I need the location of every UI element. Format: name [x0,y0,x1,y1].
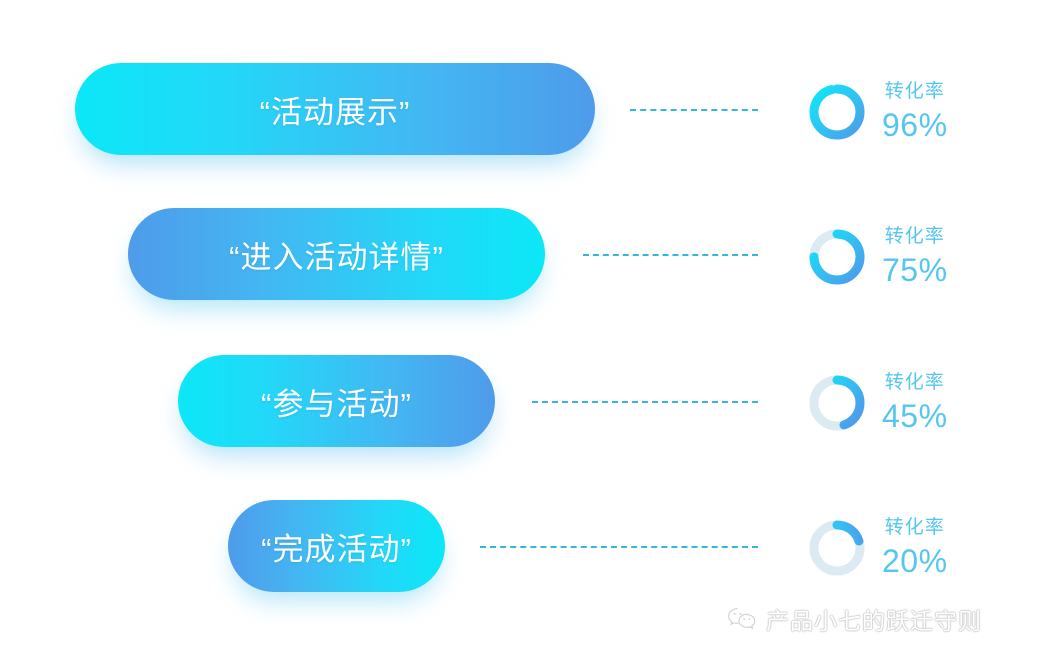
funnel-bar-label-4: “完成活动” [261,524,412,569]
funnel-bar-label-3: “参与活动” [261,379,412,424]
connector-line-4 [480,546,758,548]
metric-title-4: 转化率 [885,518,945,537]
metric-group-2: 转化率 75% [808,227,948,286]
donut-chart-3 [808,374,866,432]
metric-text-2: 转化率 75% [882,227,948,286]
metric-value-3: 45% [882,400,948,432]
metric-group-4: 转化率 20% [808,518,948,577]
funnel-bar-1[interactable]: “活动展示” [75,63,595,155]
connector-line-2 [583,254,758,256]
connector-line-1 [630,109,758,111]
metric-text-4: 转化率 20% [882,518,948,577]
funnel-bar-2[interactable]: “进入活动详情” [128,208,545,300]
metric-title-3: 转化率 [885,373,945,392]
metric-group-1: 转化率 96% [808,82,948,141]
donut-chart-2 [808,228,866,286]
funnel-bar-label-2: “进入活动详情” [229,232,444,277]
connector-line-3 [532,401,758,403]
metric-title-2: 转化率 [885,227,945,246]
funnel-stage-1: “活动展示” [75,63,595,155]
watermark-text: 产品小七的跃迁守则 [766,602,982,636]
metric-value-1: 96% [882,109,948,141]
metric-title-1: 转化率 [885,82,945,101]
funnel-stage-3: “参与活动” [178,355,495,447]
donut-chart-1 [808,83,866,141]
funnel-bar-3[interactable]: “参与活动” [178,355,495,447]
metric-group-3: 转化率 45% [808,373,948,432]
donut-chart-4 [808,519,866,577]
donut-arc-1 [814,89,860,135]
watermark: 产品小七的跃迁守则 [727,602,982,636]
metric-value-2: 75% [882,254,948,286]
metric-text-3: 转化率 45% [882,373,948,432]
funnel-bar-4[interactable]: “完成活动” [228,500,445,592]
funnel-stage-2: “进入活动详情” [128,208,545,300]
funnel-stage-4: “完成活动” [228,500,445,592]
wechat-icon [727,606,757,632]
funnel-bar-label-1: “活动展示” [260,87,411,132]
metric-text-1: 转化率 96% [882,82,948,141]
metric-value-4: 20% [882,545,948,577]
